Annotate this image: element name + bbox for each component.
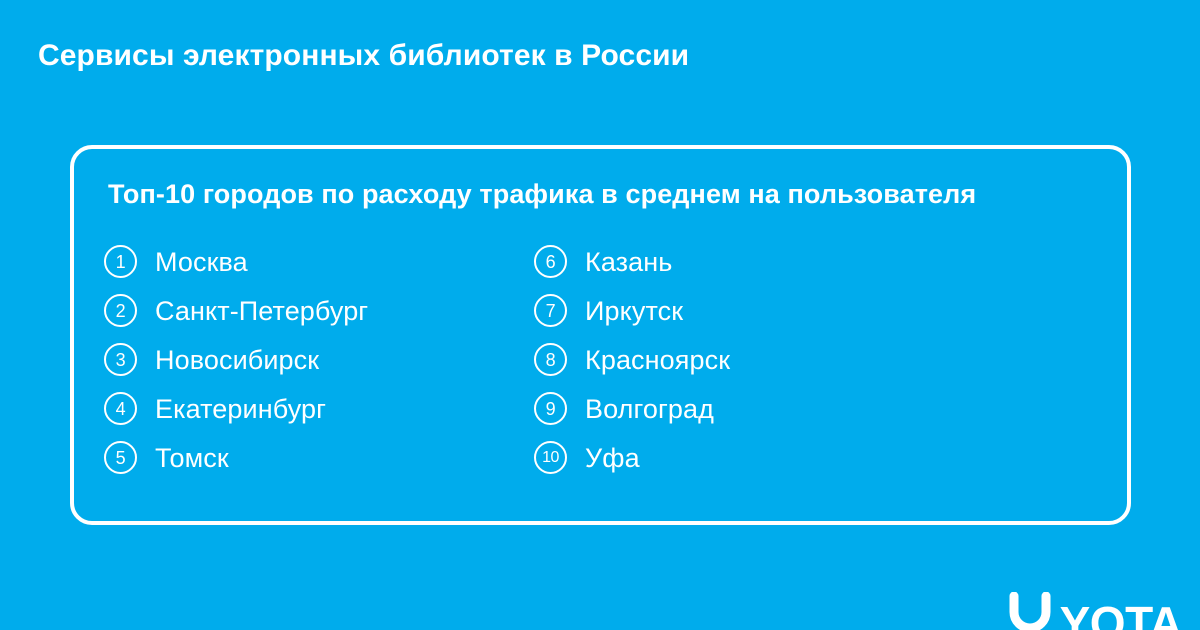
rank-badge: 6 (534, 245, 567, 278)
rank-badge: 10 (534, 441, 567, 474)
rank-number: 6 (546, 253, 556, 271)
rank-number: 10 (542, 450, 559, 466)
rank-number: 5 (116, 449, 126, 467)
rank-number: 2 (116, 302, 126, 320)
rank-number: 3 (116, 351, 126, 369)
rank-badge: 4 (104, 392, 137, 425)
yota-wordmark: YOTA (1060, 602, 1182, 630)
list-item: 1 Москва (104, 237, 534, 286)
rank-number: 1 (116, 253, 126, 271)
list-item: 5 Томск (104, 433, 534, 482)
rank-number: 9 (546, 400, 556, 418)
city-name: Красноярск (585, 344, 730, 376)
city-name: Екатеринбург (155, 393, 326, 425)
rank-badge: 2 (104, 294, 137, 327)
rank-number: 7 (546, 302, 556, 320)
list-item: 10 Уфа (534, 433, 964, 482)
city-name: Томск (155, 442, 229, 474)
yota-cup-icon (1008, 592, 1052, 630)
rank-badge: 8 (534, 343, 567, 376)
rank-badge: 5 (104, 441, 137, 474)
rank-badge: 9 (534, 392, 567, 425)
list-item: 9 Волгоград (534, 384, 964, 433)
ranked-list-column-left: 1 Москва 2 Санкт-Петербург 3 Новосибирск (104, 237, 534, 482)
top-cities-card: Топ-10 городов по расходу трафика в сред… (70, 145, 1131, 525)
city-name: Иркутск (585, 295, 683, 327)
rank-number: 4 (116, 400, 126, 418)
city-name: Москва (155, 246, 248, 278)
list-item: 2 Санкт-Петербург (104, 286, 534, 335)
list-item: 3 Новосибирск (104, 335, 534, 384)
city-name: Новосибирск (155, 344, 319, 376)
list-item: 7 Иркутск (534, 286, 964, 335)
rank-badge: 7 (534, 294, 567, 327)
city-name: Волгоград (585, 393, 714, 425)
list-item: 8 Красноярск (534, 335, 964, 384)
page-title: Сервисы электронных библиотек в России (38, 38, 1138, 74)
poster-canvas: Сервисы электронных библиотек в России Т… (0, 0, 1200, 630)
yota-logo: YOTA (1008, 592, 1182, 630)
city-name: Казань (585, 246, 672, 278)
ranked-city-list: 1 Москва 2 Санкт-Петербург 3 Новосибирск (104, 237, 1107, 482)
list-item: 6 Казань (534, 237, 964, 286)
city-name: Уфа (585, 442, 640, 474)
rank-badge: 1 (104, 245, 137, 278)
city-name: Санкт-Петербург (155, 295, 368, 327)
rank-badge: 3 (104, 343, 137, 376)
ranked-list-column-right: 6 Казань 7 Иркутск 8 Красноярск (534, 237, 964, 482)
rank-number: 8 (546, 351, 556, 369)
card-heading: Топ-10 городов по расходу трафика в сред… (108, 177, 976, 211)
list-item: 4 Екатеринбург (104, 384, 534, 433)
